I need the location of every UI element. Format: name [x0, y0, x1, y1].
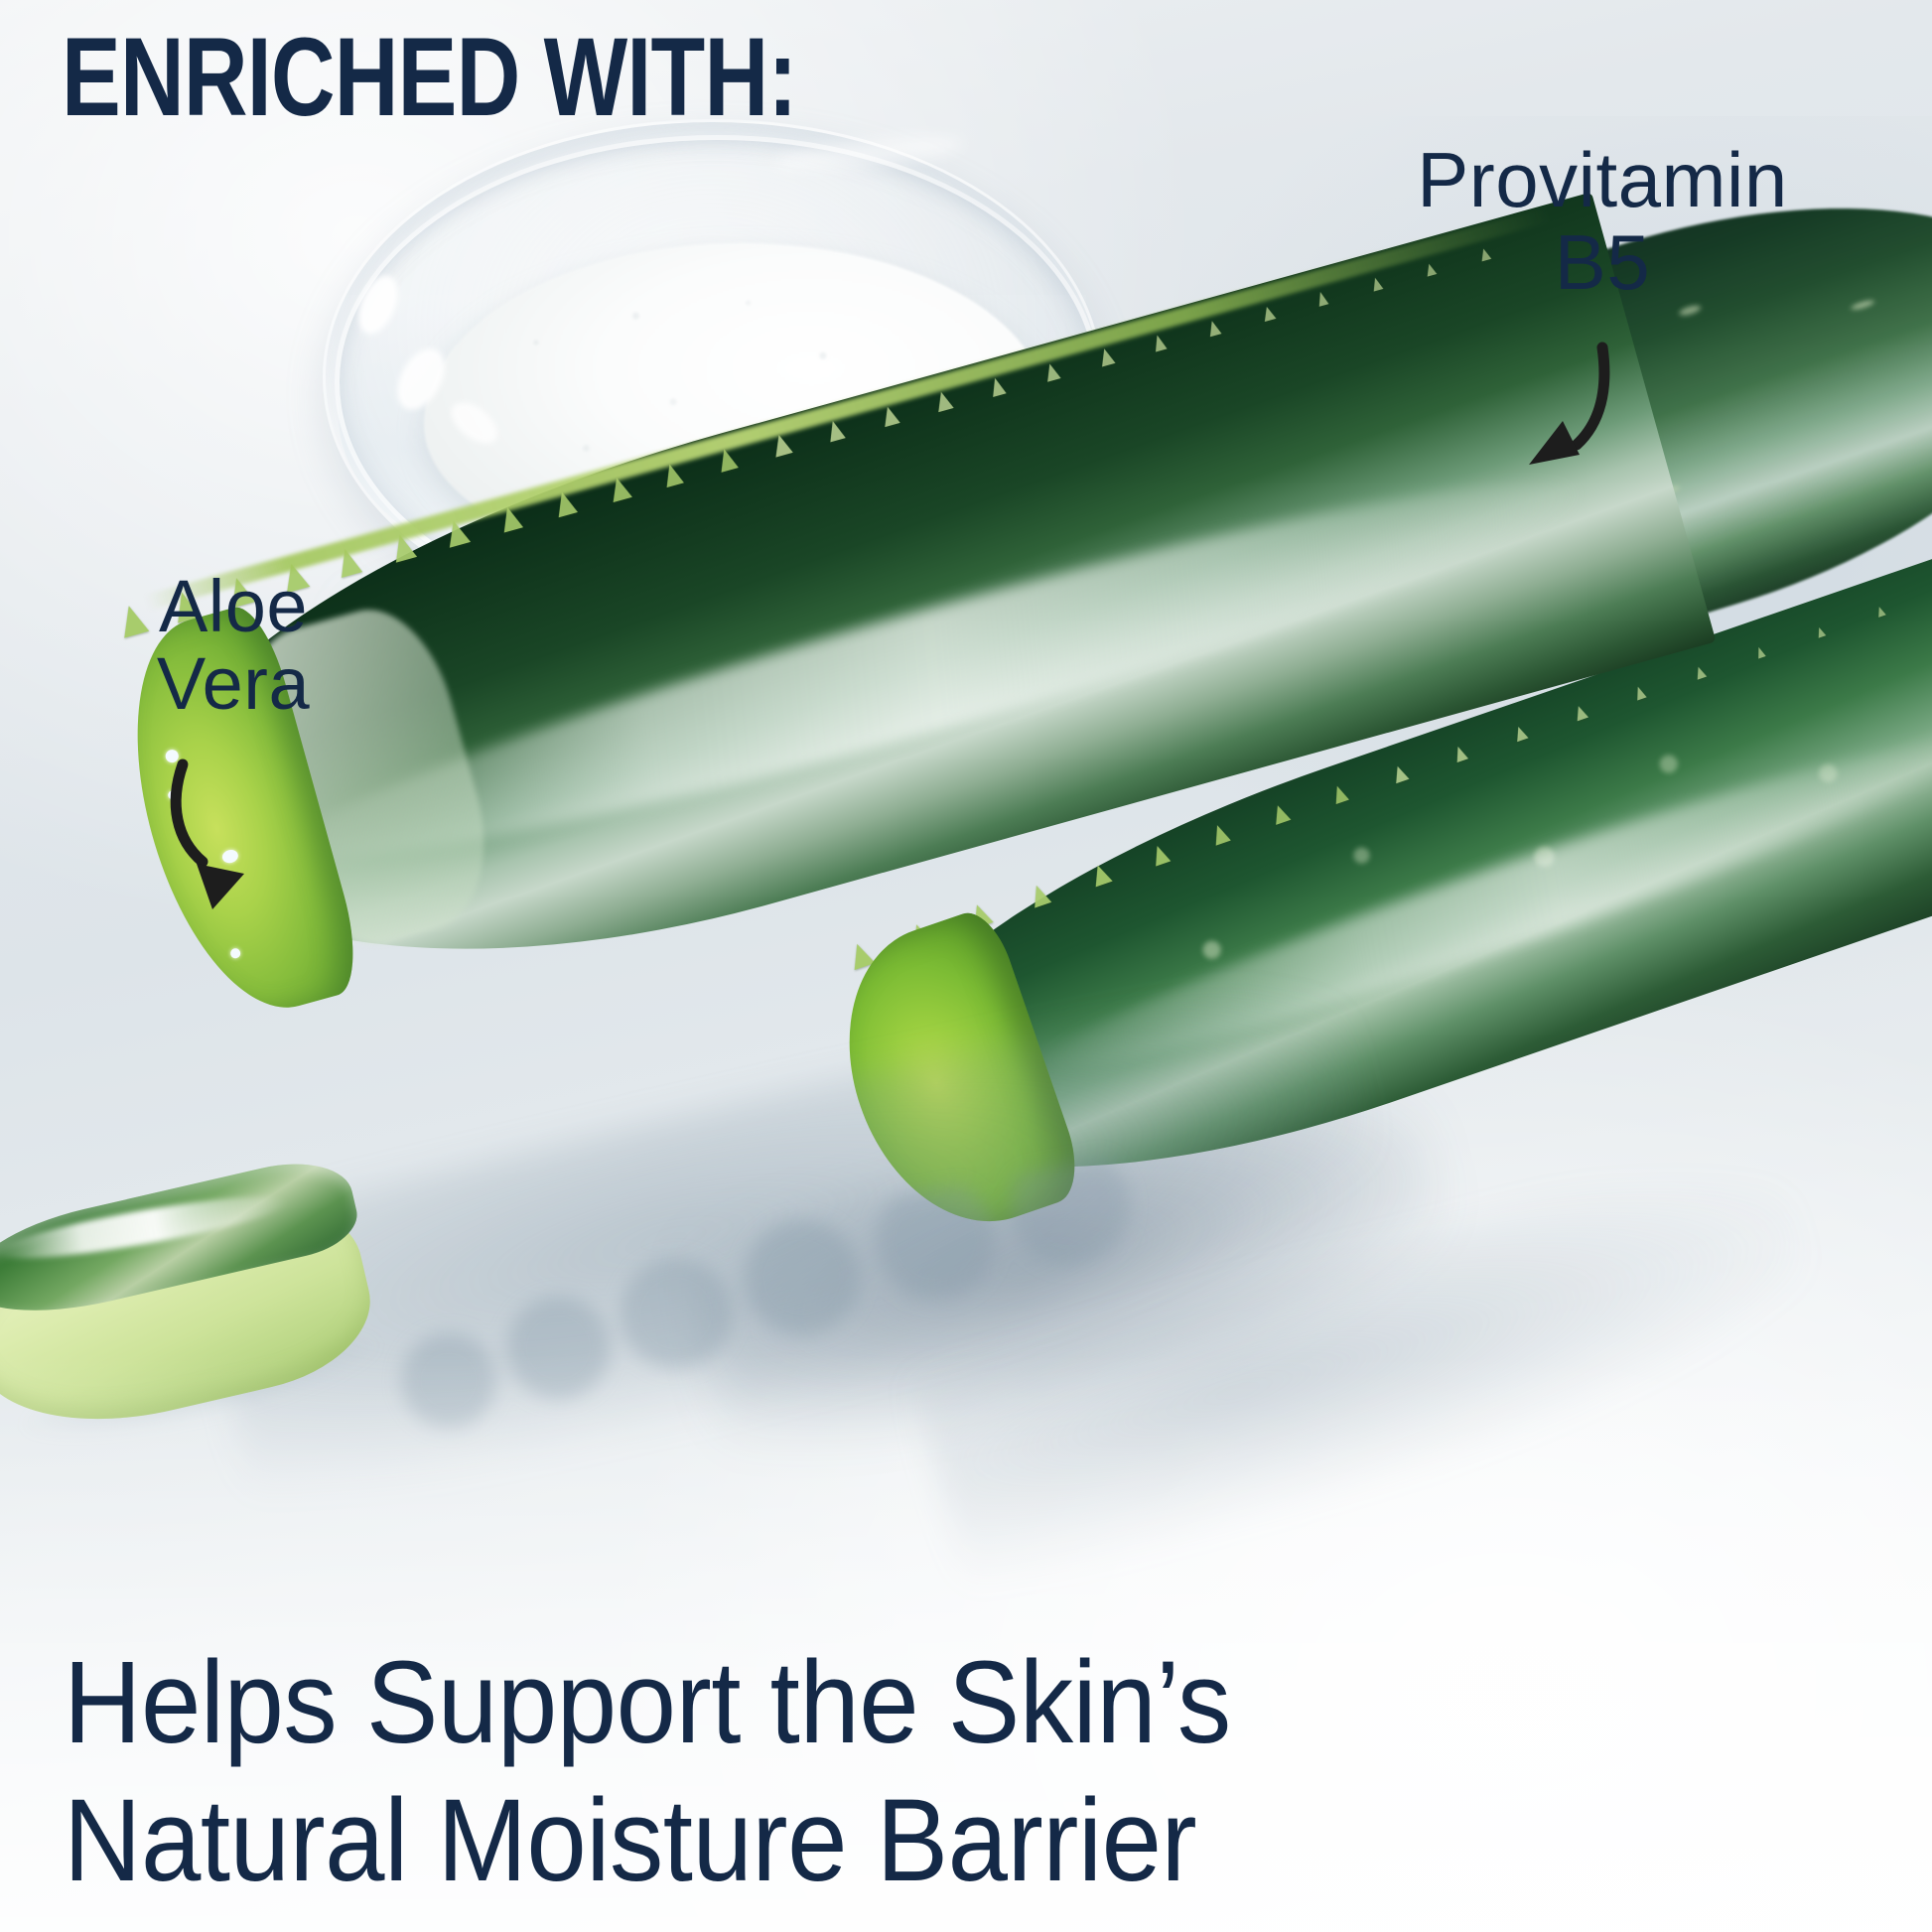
aloe-spine [825, 419, 846, 443]
curved-arrow-down-right-icon [139, 753, 288, 916]
benefit-caption-line1: Helps Support the Skin’s [64, 1634, 1231, 1772]
benefit-caption: Helps Support the Skin’s Natural Moistur… [64, 1634, 1231, 1910]
promo-image-canvas: ENRICHED WITH: Provitamin B5 Aloe Vera H… [0, 0, 1932, 1932]
callout-provitamin-b5: Provitamin B5 [1334, 139, 1870, 303]
callout-aloe-vera-line2: Vera [89, 645, 377, 723]
curved-arrow-down-left-icon [1485, 338, 1634, 496]
callout-aloe-vera: Aloe Vera [89, 568, 377, 724]
aloe-spine [1315, 291, 1328, 307]
aloe-slice [0, 1143, 409, 1468]
aloe-spine [1042, 362, 1060, 382]
callout-provitamin-b5-line2: B5 [1334, 221, 1870, 304]
aloe-spine [1152, 334, 1168, 352]
page-title: ENRICHED WITH: [62, 22, 796, 133]
callout-provitamin-b5-line1: Provitamin [1334, 139, 1870, 221]
benefit-caption-line2: Natural Moisture Barrier [64, 1772, 1231, 1910]
aloe-spine [989, 376, 1007, 397]
callout-aloe-vera-line1: Aloe [89, 568, 377, 645]
aloe-spine [1097, 346, 1115, 366]
aloe-spine [1206, 320, 1222, 338]
gel-droplet [229, 947, 241, 959]
